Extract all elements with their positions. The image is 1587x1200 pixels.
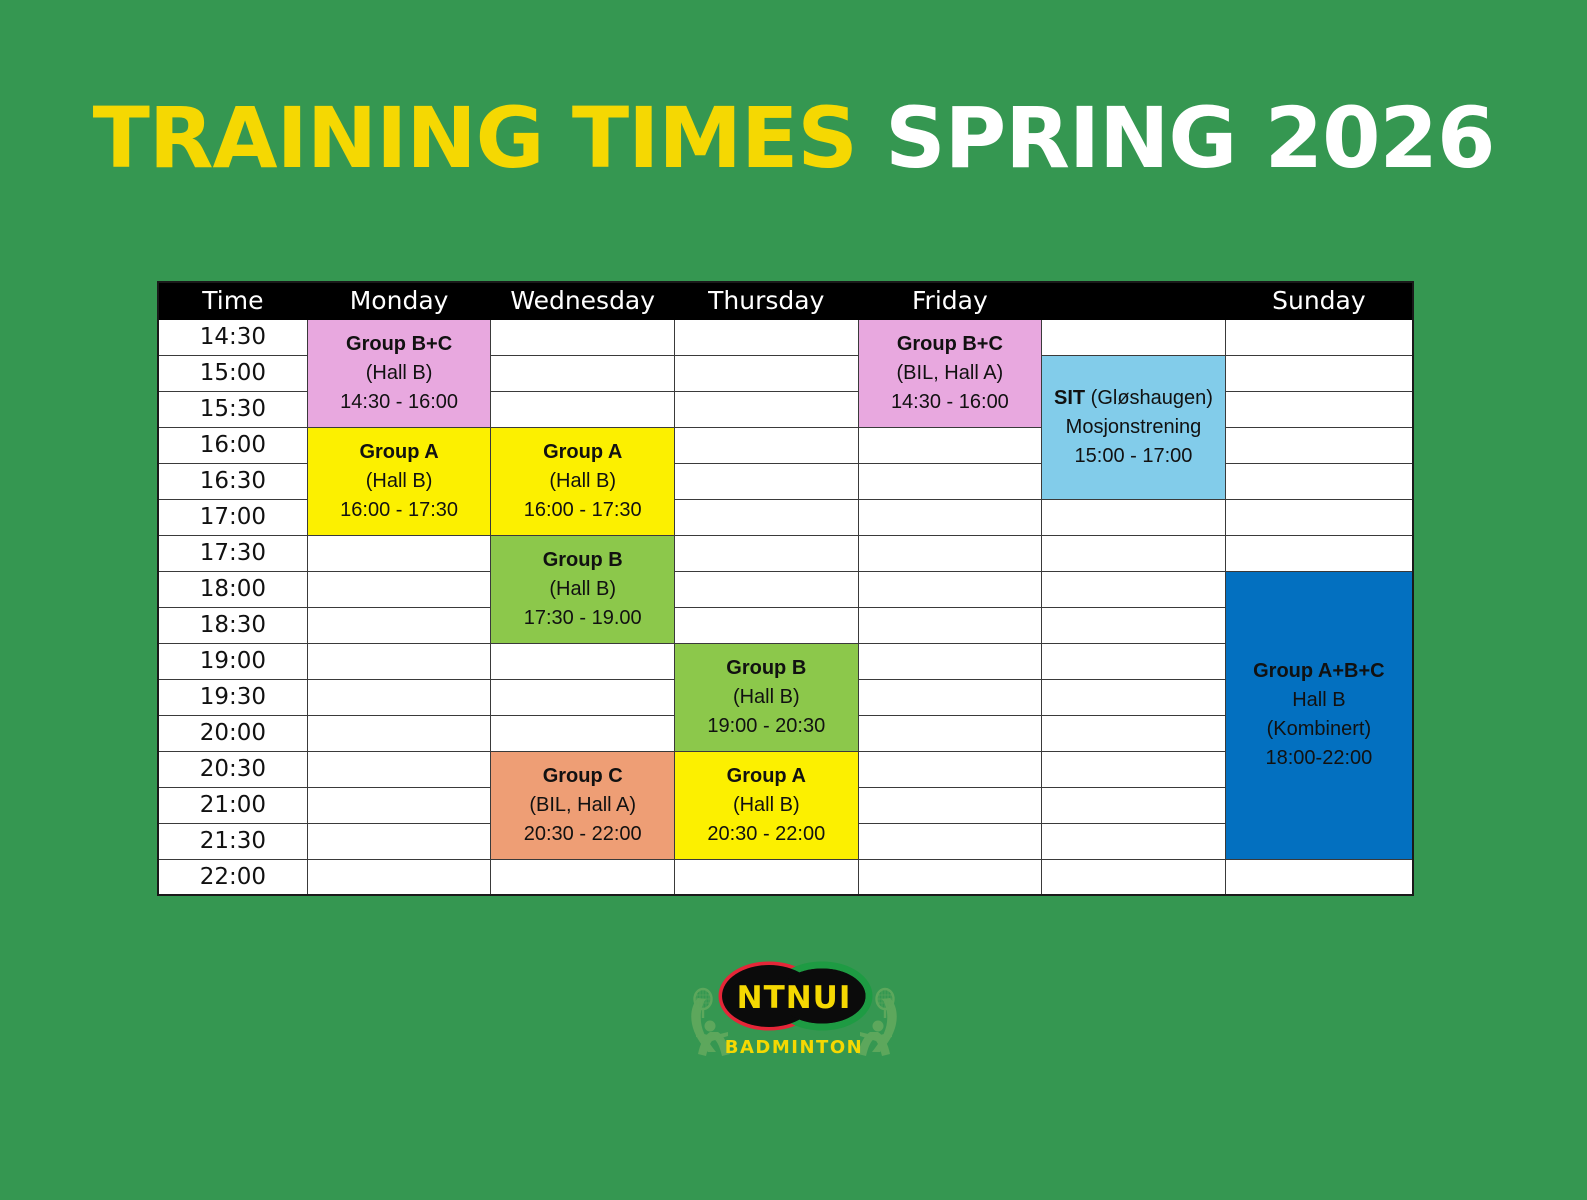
time-label: 21:00 xyxy=(158,787,307,823)
empty-cell xyxy=(491,859,675,895)
time-label: 15:30 xyxy=(158,391,307,427)
empty-cell xyxy=(307,607,491,643)
event-line-2: 19:00 - 20:30 xyxy=(679,712,854,741)
logo-svg: NTNUI BADMINTON xyxy=(676,952,912,1060)
title-highlight: TRAINING TIMES xyxy=(93,89,857,187)
event-line-0: SIT (Gløshaugen) xyxy=(1046,384,1221,413)
time-label: 16:30 xyxy=(158,463,307,499)
event-line-2: 20:30 - 22:00 xyxy=(679,820,854,849)
time-label: 18:00 xyxy=(158,571,307,607)
event-line-0: Group A+B+C xyxy=(1230,657,1408,686)
empty-cell xyxy=(1042,643,1226,679)
event-line-2: 16:00 - 17:30 xyxy=(495,496,670,525)
empty-cell xyxy=(1042,499,1226,535)
event-line-2: (Kombinert) xyxy=(1230,715,1408,744)
time-label: 22:00 xyxy=(158,859,307,895)
event-line-1: (Hall B) xyxy=(495,575,670,604)
empty-cell xyxy=(858,643,1042,679)
header-blank xyxy=(1042,282,1226,319)
event-block-mon-a[interactable]: Group A(Hall B)16:00 - 17:30 xyxy=(307,427,491,535)
time-label: 17:00 xyxy=(158,499,307,535)
empty-cell xyxy=(674,319,858,355)
empty-cell xyxy=(491,643,675,679)
time-label: 20:30 xyxy=(158,751,307,787)
event-block-thu-b[interactable]: Group B(Hall B)19:00 - 20:30 xyxy=(674,643,858,751)
empty-cell xyxy=(307,787,491,823)
empty-cell xyxy=(858,427,1042,463)
empty-cell xyxy=(1225,391,1413,427)
empty-cell xyxy=(1042,679,1226,715)
empty-cell xyxy=(307,571,491,607)
empty-cell xyxy=(1042,571,1226,607)
time-label: 17:30 xyxy=(158,535,307,571)
header-sunday: Sunday xyxy=(1225,282,1413,319)
event-line-2: 14:30 - 16:00 xyxy=(863,388,1038,417)
empty-cell xyxy=(1225,427,1413,463)
empty-cell xyxy=(858,499,1042,535)
table-row: 14:30Group B+C(Hall B)14:30 - 16:00Group… xyxy=(158,319,1413,355)
event-block-wed-b[interactable]: Group B(Hall B)17:30 - 19.00 xyxy=(491,535,675,643)
event-line-1: (Hall B) xyxy=(679,683,854,712)
empty-cell xyxy=(858,859,1042,895)
empty-cell xyxy=(307,679,491,715)
event-block-mon-bc[interactable]: Group B+C(Hall B)14:30 - 16:00 xyxy=(307,319,491,427)
empty-cell xyxy=(1225,463,1413,499)
empty-cell xyxy=(674,427,858,463)
table-row: 18:30 xyxy=(158,607,1413,643)
table-row: 18:00Group A+B+CHall B(Kombinert)18:00-2… xyxy=(158,571,1413,607)
table-header-row: Time Monday Wednesday Thursday Friday Su… xyxy=(158,282,1413,319)
empty-cell xyxy=(1042,715,1226,751)
event-line-2: 14:30 - 16:00 xyxy=(312,388,487,417)
empty-cell xyxy=(491,715,675,751)
event-line-1: Mosjonstrening xyxy=(1046,413,1221,442)
empty-cell xyxy=(1042,787,1226,823)
event-block-wed-a[interactable]: Group A(Hall B)16:00 - 17:30 xyxy=(491,427,675,535)
empty-cell xyxy=(858,463,1042,499)
time-label: 16:00 xyxy=(158,427,307,463)
empty-cell xyxy=(858,787,1042,823)
empty-cell xyxy=(1225,535,1413,571)
header-friday: Friday xyxy=(858,282,1042,319)
empty-cell xyxy=(307,751,491,787)
time-label: 19:30 xyxy=(158,679,307,715)
event-line-0: Group B xyxy=(679,654,854,683)
event-line-1: (Hall B) xyxy=(679,791,854,820)
empty-cell xyxy=(1225,319,1413,355)
event-line-2: 20:30 - 22:00 xyxy=(495,820,670,849)
empty-cell xyxy=(1042,823,1226,859)
event-line-1: (Hall B) xyxy=(312,359,487,388)
event-line-1: Hall B xyxy=(1230,686,1408,715)
empty-cell xyxy=(307,859,491,895)
header-time: Time xyxy=(158,282,307,319)
event-line-1: (BIL, Hall A) xyxy=(495,791,670,820)
time-label: 21:30 xyxy=(158,823,307,859)
empty-cell xyxy=(858,715,1042,751)
event-line-1: (Hall B) xyxy=(495,467,670,496)
logo-club-name: NTNUI xyxy=(736,980,851,1016)
event-line-2: 17:30 - 19.00 xyxy=(495,604,670,633)
empty-cell xyxy=(307,823,491,859)
event-line-2: 15:00 - 17:00 xyxy=(1046,442,1221,471)
empty-cell xyxy=(491,319,675,355)
empty-cell xyxy=(674,355,858,391)
empty-cell xyxy=(1225,859,1413,895)
empty-cell xyxy=(858,679,1042,715)
empty-cell xyxy=(858,607,1042,643)
time-label: 14:30 xyxy=(158,319,307,355)
table-row: 20:30Group C(BIL, Hall A)20:30 - 22:00Gr… xyxy=(158,751,1413,787)
event-block-wed-c[interactable]: Group C(BIL, Hall A)20:30 - 22:00 xyxy=(491,751,675,859)
event-line-1: (Hall B) xyxy=(312,467,487,496)
empty-cell xyxy=(491,391,675,427)
event-block-thu-a[interactable]: Group A(Hall B)20:30 - 22:00 xyxy=(674,751,858,859)
empty-cell xyxy=(858,571,1042,607)
empty-cell xyxy=(1042,319,1226,355)
empty-cell xyxy=(674,571,858,607)
time-label: 18:30 xyxy=(158,607,307,643)
empty-cell xyxy=(307,535,491,571)
training-schedule-table: Time Monday Wednesday Thursday Friday Su… xyxy=(157,281,1414,896)
empty-cell xyxy=(858,535,1042,571)
schedule-body: 14:30Group B+C(Hall B)14:30 - 16:00Group… xyxy=(158,319,1413,895)
event-block-sit[interactable]: SIT (Gløshaugen)Mosjonstrening15:00 - 17… xyxy=(1042,355,1226,499)
empty-cell xyxy=(674,535,858,571)
event-line-0: Group B+C xyxy=(312,330,487,359)
logo-sport-name: BADMINTON xyxy=(724,1037,862,1058)
empty-cell xyxy=(307,715,491,751)
empty-cell xyxy=(1225,355,1413,391)
empty-cell xyxy=(1042,859,1226,895)
event-line-0: Group B+C xyxy=(863,330,1038,359)
header-monday: Monday xyxy=(307,282,491,319)
ntnui-badminton-logo: NTNUI BADMINTON xyxy=(676,952,912,1060)
table-row: 17:30Group B(Hall B)17:30 - 19.00 xyxy=(158,535,1413,571)
empty-cell xyxy=(307,643,491,679)
event-block-sun-abc[interactable]: Group A+B+CHall B(Kombinert)18:00-22:00 xyxy=(1225,571,1413,859)
empty-cell xyxy=(674,391,858,427)
empty-cell xyxy=(1042,535,1226,571)
time-label: 20:00 xyxy=(158,715,307,751)
page-title: TRAINING TIMES SPRING 2026 xyxy=(0,96,1587,180)
empty-cell xyxy=(491,355,675,391)
event-line-0: Group B xyxy=(495,546,670,575)
event-block-fri-bc[interactable]: Group B+C(BIL, Hall A)14:30 - 16:00 xyxy=(858,319,1042,427)
empty-cell xyxy=(674,499,858,535)
empty-cell xyxy=(1042,607,1226,643)
event-line-0: Group A xyxy=(679,762,854,791)
empty-cell xyxy=(674,607,858,643)
empty-cell xyxy=(858,823,1042,859)
event-line-2: 16:00 - 17:30 xyxy=(312,496,487,525)
empty-cell xyxy=(674,463,858,499)
header-thursday: Thursday xyxy=(674,282,858,319)
event-line-0: Group A xyxy=(312,438,487,467)
empty-cell xyxy=(674,859,858,895)
time-label: 19:00 xyxy=(158,643,307,679)
table-row: 16:00Group A(Hall B)16:00 - 17:30Group A… xyxy=(158,427,1413,463)
empty-cell xyxy=(491,679,675,715)
empty-cell xyxy=(1225,499,1413,535)
table-row: 19:00Group B(Hall B)19:00 - 20:30 xyxy=(158,643,1413,679)
event-line-1: (BIL, Hall A) xyxy=(863,359,1038,388)
header-wednesday: Wednesday xyxy=(491,282,675,319)
empty-cell xyxy=(1042,751,1226,787)
empty-cell xyxy=(858,751,1042,787)
event-line-0: Group C xyxy=(495,762,670,791)
event-line-0: Group A xyxy=(495,438,670,467)
table-row: 22:00 xyxy=(158,859,1413,895)
event-line-3: 18:00-22:00 xyxy=(1230,744,1408,773)
title-rest: SPRING 2026 xyxy=(857,89,1495,187)
time-label: 15:00 xyxy=(158,355,307,391)
